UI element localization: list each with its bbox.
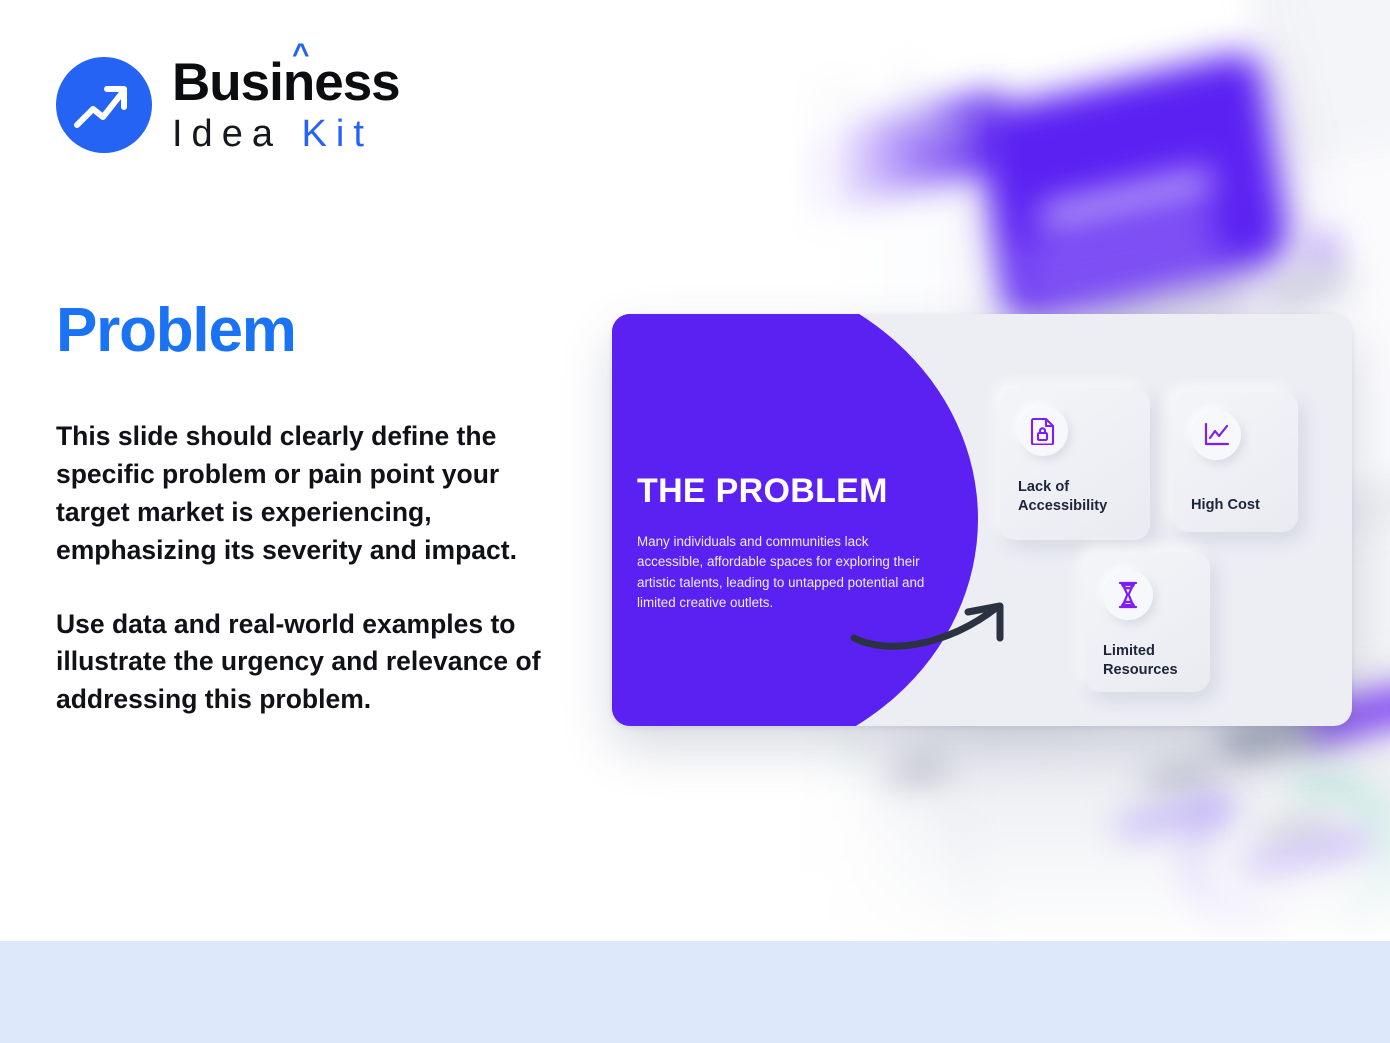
bg-dot-shape bbox=[830, 745, 852, 767]
bg-dot-shape bbox=[1310, 238, 1336, 264]
hourglass-icon bbox=[1103, 570, 1153, 620]
feature-tile-label: High Cost bbox=[1191, 496, 1286, 515]
slide-heading: THE PROBLEM bbox=[637, 472, 888, 511]
brand-wordmark: Business ^ Idea Kit bbox=[172, 56, 400, 153]
brand-name-kit: Kit bbox=[302, 113, 373, 155]
curved-arrow-up-right-icon bbox=[850, 594, 1020, 654]
brand-name-line2: Idea Kit bbox=[172, 115, 400, 153]
description-paragraph-2: Use data and real-world examples to illu… bbox=[56, 606, 566, 720]
slide-page: Business ^ Idea Kit Problem This slide s… bbox=[0, 0, 1390, 1043]
line-chart-icon bbox=[1191, 410, 1241, 460]
brand-caret-icon: ^ bbox=[292, 40, 309, 70]
brand-name-idea: Idea bbox=[172, 113, 282, 155]
page-title: Problem bbox=[56, 295, 296, 366]
left-content-panel: Business ^ Idea Kit Problem This slide s… bbox=[0, 0, 600, 941]
feature-tile-limited-resources[interactable]: Limited Resources bbox=[1085, 552, 1210, 692]
feature-tile-label: Lack of Accessibility bbox=[1018, 478, 1138, 515]
bottom-accent-band bbox=[0, 941, 1390, 1043]
brand-logo: Business ^ Idea Kit bbox=[56, 56, 400, 153]
document-lock-icon bbox=[1018, 406, 1068, 456]
page-description: This slide should clearly define the spe… bbox=[56, 418, 566, 719]
feature-tile-label: Limited Resources bbox=[1103, 642, 1198, 679]
slide-preview-card[interactable]: THE PROBLEM Many individuals and communi… bbox=[612, 314, 1352, 726]
brand-name-line1: Business ^ bbox=[172, 56, 400, 109]
feature-tile-lack-of-accessibility[interactable]: Lack of Accessibility bbox=[1000, 388, 1150, 540]
trending-up-chart-icon bbox=[56, 57, 152, 153]
feature-tile-high-cost[interactable]: High Cost bbox=[1173, 392, 1298, 532]
purple-blob-circle bbox=[612, 314, 978, 726]
description-paragraph-1: This slide should clearly define the spe… bbox=[56, 418, 566, 570]
brand-name-line1-text: Business bbox=[172, 53, 400, 112]
